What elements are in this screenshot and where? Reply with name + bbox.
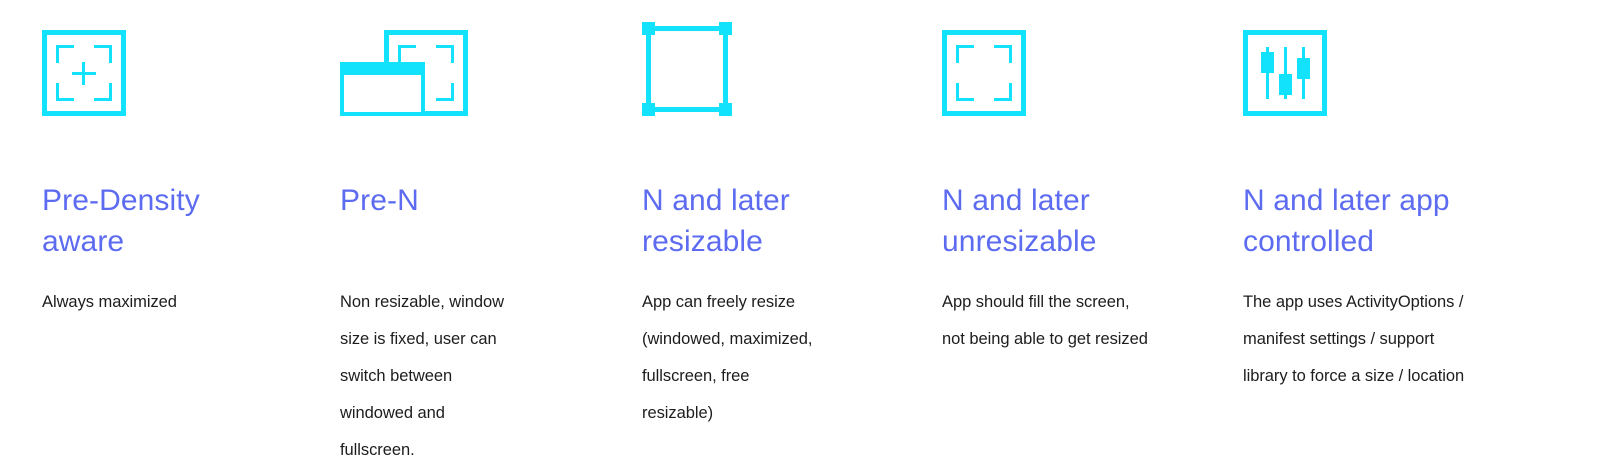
icon-slot bbox=[42, 22, 222, 142]
column-n-and-later-unresizable: N and later unresizable App should fill … bbox=[942, 22, 1192, 358]
icon-slot bbox=[642, 22, 822, 142]
card-title: Pre-N bbox=[340, 180, 590, 221]
corner-bracket-top-right bbox=[994, 45, 1012, 63]
icon-slot bbox=[1243, 22, 1423, 142]
card-body: App can freely resize (windowed, maximiz… bbox=[642, 284, 892, 432]
resizable-handles-icon bbox=[642, 22, 734, 124]
corner-bracket-top-left bbox=[398, 45, 416, 63]
resize-handle-bottom-right[interactable] bbox=[719, 103, 732, 116]
slider-knob-1[interactable] bbox=[1261, 52, 1274, 73]
slider-knob-2[interactable] bbox=[1279, 74, 1292, 95]
icon-resize-rect bbox=[646, 26, 728, 112]
corner-bracket-top-right bbox=[94, 45, 112, 63]
pre-density-aware-icon bbox=[42, 30, 126, 116]
pre-n-windows-icon bbox=[340, 30, 468, 116]
corner-bracket-top-right bbox=[436, 45, 454, 63]
corner-bracket-bottom-right bbox=[994, 83, 1012, 101]
column-n-and-later-app-controlled: N and later app controlled The app uses … bbox=[1243, 22, 1553, 395]
resize-handle-top-left[interactable] bbox=[642, 22, 655, 35]
unresizable-frame-icon bbox=[942, 30, 1026, 116]
corner-bracket-bottom-right bbox=[436, 83, 454, 101]
card-body: Non resizable, window size is fixed, use… bbox=[340, 284, 590, 469]
corner-bracket-bottom-left bbox=[56, 83, 74, 101]
icon-frame bbox=[942, 30, 1026, 116]
card-title: N and later app controlled bbox=[1243, 180, 1553, 262]
column-pre-n: Pre-N Non resizable, window size is fixe… bbox=[340, 22, 590, 469]
app-controlled-sliders-icon bbox=[1243, 30, 1327, 116]
card-body: App should fill the screen, not being ab… bbox=[942, 284, 1192, 358]
icon-slot bbox=[340, 22, 520, 142]
icon-front-window-titlebar bbox=[340, 62, 425, 75]
corner-bracket-top-left bbox=[56, 45, 74, 63]
slider-knob-3[interactable] bbox=[1297, 58, 1310, 79]
corner-bracket-top-left bbox=[956, 45, 974, 63]
card-title: N and later unresizable bbox=[942, 180, 1192, 262]
card-body: The app uses ActivityOptions / manifest … bbox=[1243, 284, 1553, 395]
column-pre-density-aware: Pre-Density aware Always maximized bbox=[42, 22, 292, 321]
plus-icon-vertical bbox=[82, 62, 85, 85]
column-n-and-later-resizable: N and later resizable App can freely res… bbox=[642, 22, 892, 432]
window-modes-diagram: Pre-Density aware Always maximized Pre-N… bbox=[0, 0, 1600, 473]
card-body: Always maximized bbox=[42, 284, 292, 321]
icon-slot bbox=[942, 22, 1122, 142]
card-title: N and later resizable bbox=[642, 180, 892, 262]
resize-handle-top-right[interactable] bbox=[719, 22, 732, 35]
card-title: Pre-Density aware bbox=[42, 180, 292, 262]
corner-bracket-bottom-left bbox=[956, 83, 974, 101]
corner-bracket-bottom-right bbox=[94, 83, 112, 101]
resize-handle-bottom-left[interactable] bbox=[642, 103, 655, 116]
